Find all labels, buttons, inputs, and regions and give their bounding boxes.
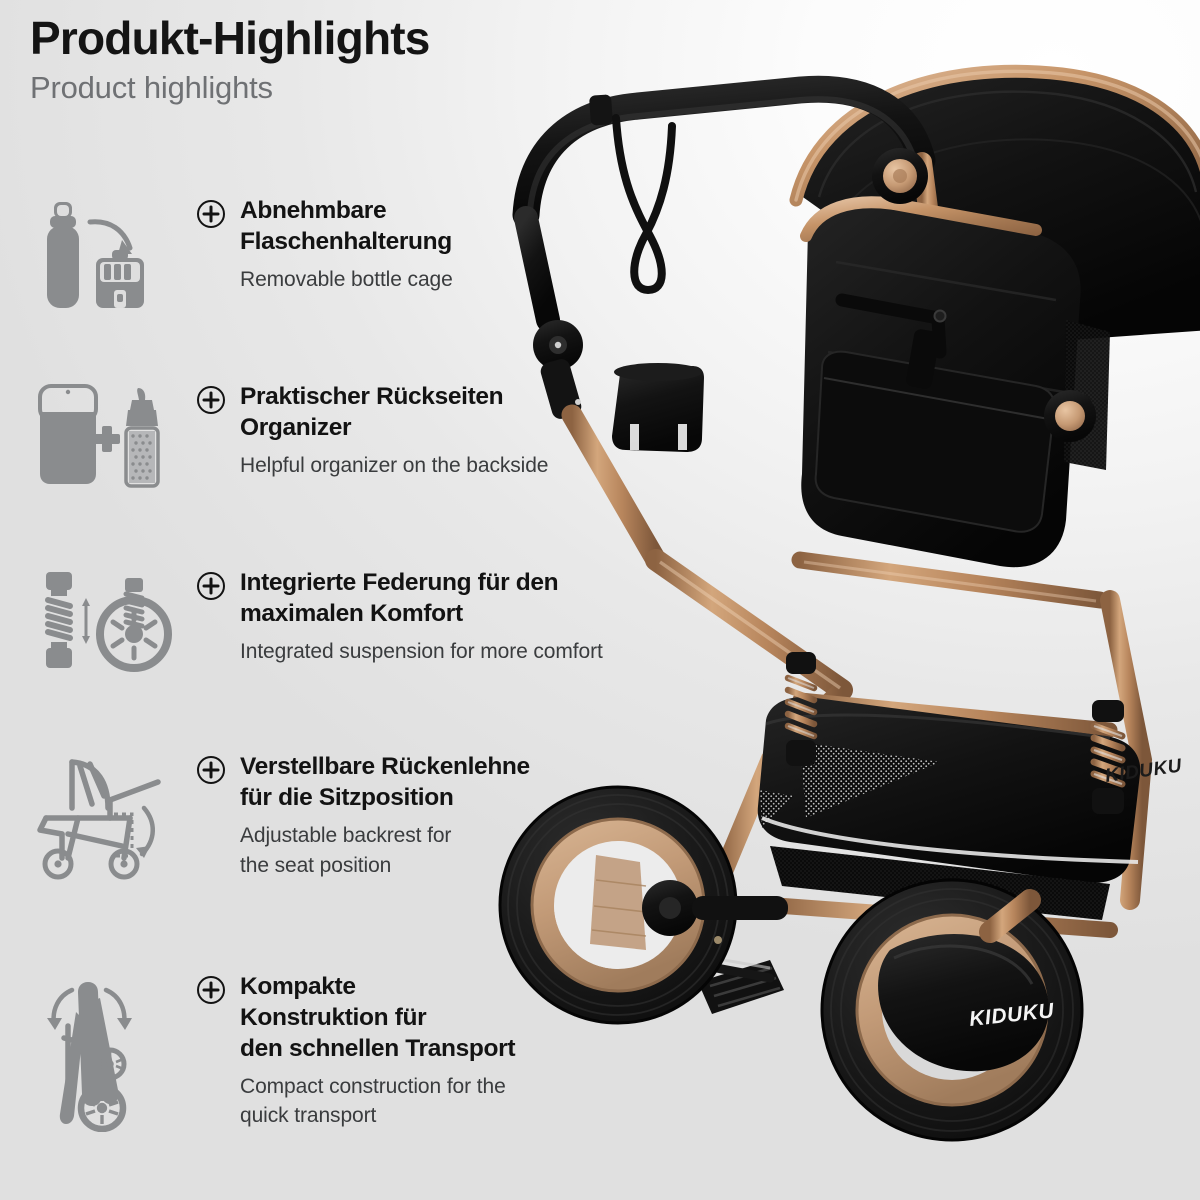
feature-subtitle-5: Compact construction for the quick trans… — [240, 1072, 580, 1132]
feature-text-1: Abnehmbare Flaschenhalterung Removable b… — [240, 196, 640, 295]
canopy-pivot-knob — [872, 148, 928, 204]
plus-circle-icon — [196, 975, 226, 1010]
feature-title-5: Kompakte Konstruktion für den schnellen … — [240, 972, 580, 1065]
feature-title-4: Verstellbare Rückenlehne für die Sitzpos… — [240, 752, 590, 814]
plus-circle-icon — [196, 385, 226, 420]
feature-subtitle-2: Helpful organizer on the backside — [240, 451, 640, 481]
feature-title-2: Praktischer Rückseiten Organizer — [240, 382, 640, 444]
feature-text-5: Kompakte Konstruktion für den schnellen … — [240, 972, 580, 1131]
plus-circle-icon — [196, 199, 226, 234]
feature-text-4: Verstellbare Rückenlehne für die Sitzpos… — [240, 752, 590, 880]
bottle-to-cage-icon — [32, 196, 172, 316]
rear-wheel: KIDUKU — [822, 880, 1082, 1140]
feature-text-3: Integrierte Federung für den maximalen K… — [240, 568, 680, 667]
plus-circle-icon — [196, 571, 226, 606]
seat-backrest — [801, 202, 1110, 567]
feature-title-1: Abnehmbare Flaschenhalterung — [240, 196, 640, 258]
folded-stroller-icon — [32, 972, 172, 1092]
feature-subtitle-1: Removable bottle cage — [240, 265, 640, 295]
product-highlights-infographic: Produkt-Highlights Product highlights — [0, 0, 1200, 1200]
seat-pivot-knob — [1044, 390, 1096, 442]
reclining-backrest-stroller-icon — [32, 752, 172, 872]
feature-subtitle-3: Integrated suspension for more comfort — [240, 637, 680, 667]
suspension-spring-wheel-icon — [32, 568, 172, 688]
pocket-plus-bottle-icon — [32, 382, 172, 502]
plus-circle-icon — [196, 755, 226, 790]
feature-subtitle-4: Adjustable backrest for the seat positio… — [240, 821, 590, 881]
feature-title-3: Integrierte Federung für den maximalen K… — [240, 568, 680, 630]
feature-text-2: Praktischer Rückseiten Organizer Helpful… — [240, 382, 640, 481]
